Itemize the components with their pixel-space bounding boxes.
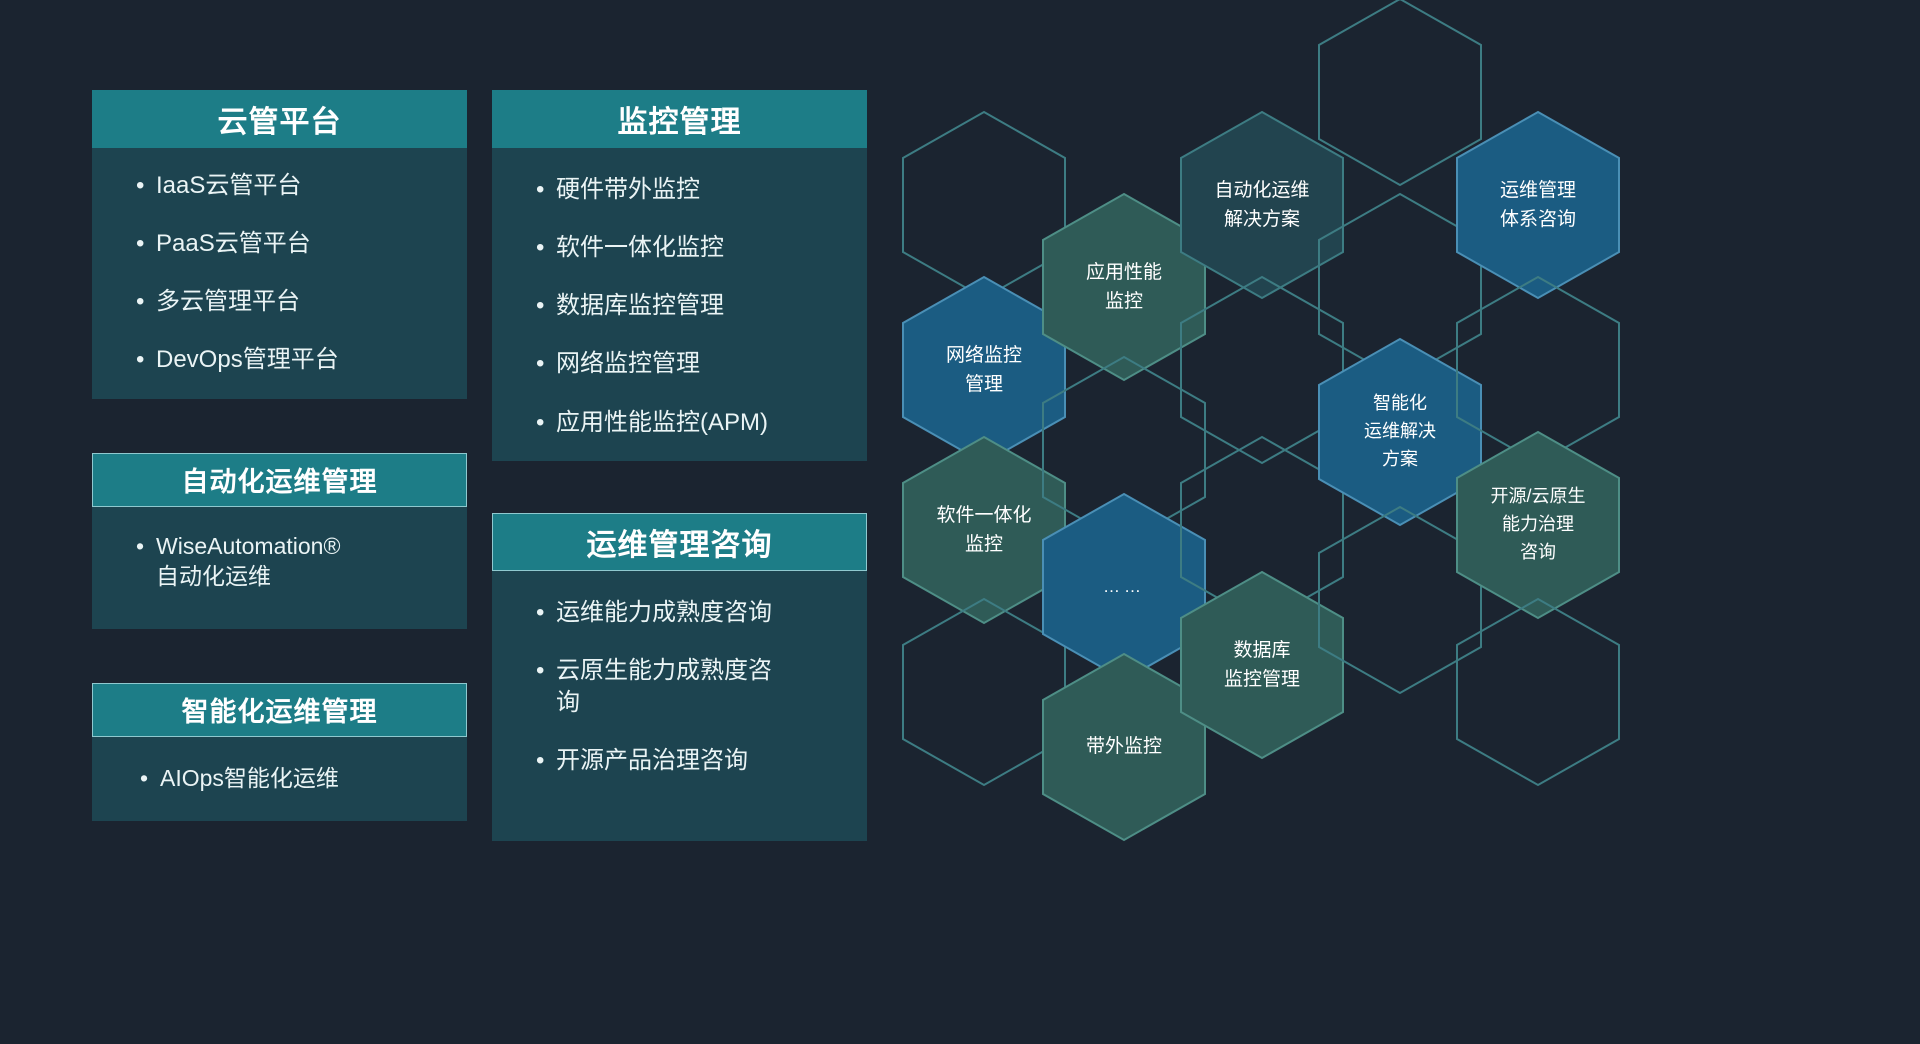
cards-right-column: 监控管理硬件带外监控软件一体化监控数据库监控管理网络监控管理应用性能监控(APM… (492, 90, 867, 841)
card-automated-ops-management: 自动化运维管理WiseAutomation® 自动化运维 (92, 453, 467, 629)
card-item: 应用性能监控(APM) (534, 407, 841, 439)
card-item: AIOps智能化运维 (138, 763, 441, 794)
card-monitoring-management: 监控管理硬件带外监控软件一体化监控数据库监控管理网络监控管理应用性能监控(APM… (492, 90, 867, 461)
card-body-monitoring-management: 硬件带外监控软件一体化监控数据库监控管理网络监控管理应用性能监控(APM) (492, 148, 867, 461)
card-item: PaaS云管平台 (134, 228, 441, 260)
hex-ops-management-consulting[interactable]: 运维管理 体系咨询 (1454, 110, 1622, 300)
hexagon-grid: 网络监控 管理软件一体化 监控应用性能 监控……带外监控自动化运维 解决方案数据… (900, 0, 1920, 1044)
card-title-automated-ops-management: 自动化运维管理 (92, 453, 467, 507)
card-item: 多云管理平台 (134, 286, 441, 318)
slide-root: 云管平台IaaS云管平台PaaS云管平台多云管理平台DevOps管理平台自动化运… (0, 0, 1920, 1044)
card-ops-management-consulting: 运维管理咨询运维能力成熟度咨询云原生能力成熟度咨 询开源产品治理咨询 (492, 513, 867, 841)
hex-empty-c5r4 (1454, 597, 1622, 787)
card-item: 网络监控管理 (534, 348, 841, 380)
card-item: 数据库监控管理 (534, 290, 841, 322)
card-item: 硬件带外监控 (534, 174, 841, 206)
card-body-automated-ops-management: WiseAutomation® 自动化运维 (92, 507, 467, 629)
card-title-cloud-management-platform: 云管平台 (92, 90, 467, 148)
card-item: DevOps管理平台 (134, 344, 441, 376)
card-cloud-management-platform: 云管平台IaaS云管平台PaaS云管平台多云管理平台DevOps管理平台 (92, 90, 467, 399)
card-item: IaaS云管平台 (134, 170, 441, 202)
card-item: WiseAutomation® 自动化运维 (134, 531, 441, 593)
card-item: 开源产品治理咨询 (534, 745, 841, 777)
hexagon-shape (1454, 597, 1622, 787)
card-title-ops-management-consulting: 运维管理咨询 (492, 513, 867, 571)
card-item: 云原生能力成熟度咨 询 (534, 655, 841, 719)
card-title-monitoring-management: 监控管理 (492, 90, 867, 148)
card-item: 运维能力成熟度咨询 (534, 597, 841, 629)
hex-opensource-cloudnative[interactable]: 开源/云原生 能力治理 咨询 (1454, 430, 1622, 620)
card-item: 软件一体化监控 (534, 232, 841, 264)
card-title-intelligent-ops-management: 智能化运维管理 (92, 683, 467, 737)
card-body-cloud-management-platform: IaaS云管平台PaaS云管平台多云管理平台DevOps管理平台 (92, 148, 467, 399)
card-body-intelligent-ops-management: AIOps智能化运维 (92, 737, 467, 821)
hexagon-shape (1454, 110, 1622, 300)
card-body-ops-management-consulting: 运维能力成熟度咨询云原生能力成熟度咨 询开源产品治理咨询 (492, 571, 867, 841)
hexagon-shape (1454, 430, 1622, 620)
card-intelligent-ops-management: 智能化运维管理AIOps智能化运维 (92, 683, 467, 821)
cards-left-column: 云管平台IaaS云管平台PaaS云管平台多云管理平台DevOps管理平台自动化运… (92, 90, 467, 821)
capability-cards-panel: 云管平台IaaS云管平台PaaS云管平台多云管理平台DevOps管理平台自动化运… (92, 90, 872, 970)
